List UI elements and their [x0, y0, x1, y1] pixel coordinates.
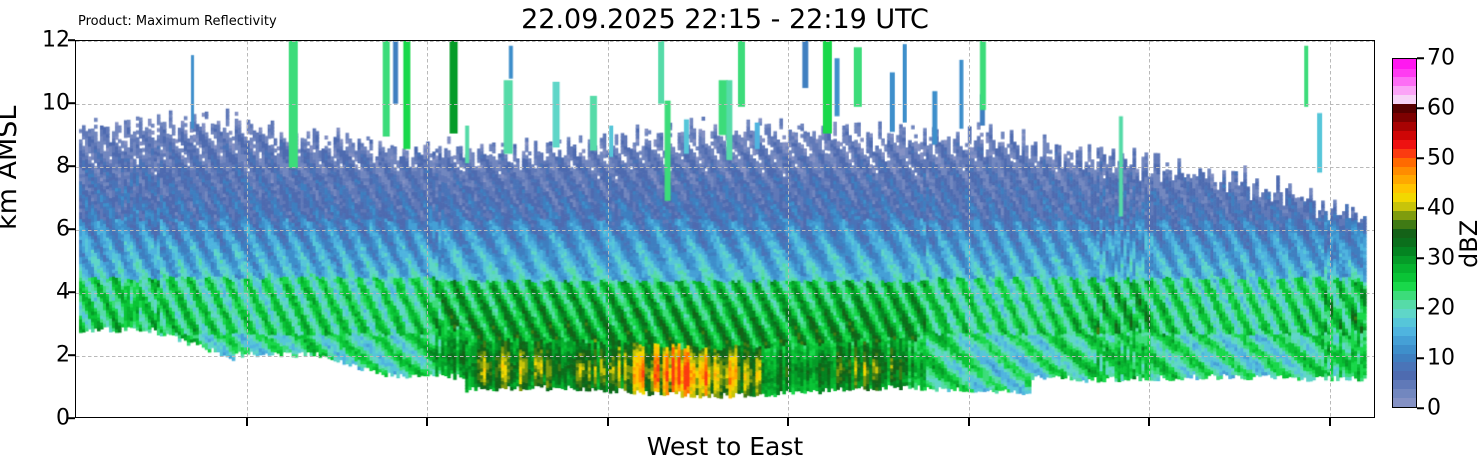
y-tick-label: 12: [42, 28, 70, 53]
colorbar-tick-label: 50: [1427, 146, 1455, 171]
x-tick-mark: [1148, 418, 1150, 426]
colorbar-band: [1393, 380, 1416, 390]
radar-cross-section-figure: Product: Maximum Reflectivity 22.09.2025…: [0, 0, 1482, 470]
colorbar-tick-mark: [1417, 207, 1424, 209]
colorbar-band: [1393, 175, 1416, 185]
x-tick-mark: [968, 418, 970, 426]
x-tick-mark: [1329, 418, 1331, 426]
colorbar-band: [1393, 112, 1416, 122]
colorbar-tick-mark: [1417, 107, 1424, 109]
colorbar-band: [1393, 371, 1416, 381]
colorbar-band: [1393, 237, 1416, 247]
colorbar-band: [1393, 264, 1416, 274]
colorbar-band: [1393, 273, 1416, 283]
colorbar-band: [1393, 210, 1416, 220]
colorbar-band: [1393, 291, 1416, 301]
colorbar-band: [1393, 308, 1416, 318]
y-tick-label: 2: [56, 343, 70, 368]
colorbar-band: [1393, 77, 1416, 87]
colorbar-band: [1393, 228, 1416, 238]
colorbar-tick-mark: [1417, 357, 1424, 359]
colorbar-tick-label: 30: [1427, 246, 1455, 271]
y-tick-label: 8: [56, 154, 70, 179]
colorbar-band: [1393, 104, 1416, 114]
colorbar-band: [1393, 184, 1416, 194]
y-tick-label: 0: [56, 406, 70, 431]
x-tick-mark: [246, 418, 248, 426]
colorbar-band: [1393, 139, 1416, 149]
colorbar-band: [1393, 353, 1416, 363]
colorbar-band: [1393, 157, 1416, 167]
y-axis-label: km AMSL: [0, 106, 23, 230]
colorbar-band: [1393, 344, 1416, 354]
reflectivity-heatmap: [76, 41, 1374, 417]
colorbar-tick-label: 20: [1427, 296, 1455, 321]
colorbar-band: [1393, 389, 1416, 399]
colorbar-tick-mark: [1417, 57, 1424, 59]
colorbar-band: [1393, 95, 1416, 105]
colorbar-band: [1393, 300, 1416, 310]
chart-title: 22.09.2025 22:15 - 22:19 UTC: [75, 4, 1375, 35]
plot-area: [75, 40, 1375, 418]
colorbar: [1392, 58, 1417, 408]
colorbar-band: [1393, 193, 1416, 203]
colorbar-band: [1393, 121, 1416, 131]
colorbar-tick-label: 40: [1427, 196, 1455, 221]
colorbar-band: [1393, 317, 1416, 327]
x-tick-mark: [426, 418, 428, 426]
colorbar-band: [1393, 166, 1416, 176]
colorbar-band: [1393, 362, 1416, 372]
colorbar-tick-label: 0: [1427, 396, 1441, 421]
colorbar-tick-mark: [1417, 157, 1424, 159]
x-tick-mark: [607, 418, 609, 426]
colorbar-band: [1393, 148, 1416, 158]
colorbar-band: [1393, 255, 1416, 265]
colorbar-band: [1393, 202, 1416, 212]
colorbar-tick-mark: [1417, 407, 1424, 409]
y-tick-label: 6: [56, 217, 70, 242]
x-axis-label: West to East: [75, 432, 1375, 461]
colorbar-band: [1393, 59, 1416, 69]
colorbar-label: dBZ: [1455, 220, 1482, 268]
colorbar-tick-label: 60: [1427, 96, 1455, 121]
colorbar-tick-mark: [1417, 257, 1424, 259]
colorbar-tick-mark: [1417, 307, 1424, 309]
colorbar-band: [1393, 219, 1416, 229]
colorbar-band: [1393, 86, 1416, 96]
colorbar-band: [1393, 282, 1416, 292]
colorbar-band: [1393, 68, 1416, 78]
colorbar-band: [1393, 335, 1416, 345]
y-tick-label: 10: [42, 91, 70, 116]
x-tick-mark: [787, 418, 789, 426]
colorbar-tick-label: 70: [1427, 46, 1455, 71]
colorbar-band: [1393, 130, 1416, 140]
colorbar-tick-label: 10: [1427, 346, 1455, 371]
colorbar-band: [1393, 246, 1416, 256]
y-tick-label: 4: [56, 280, 70, 305]
colorbar-band: [1393, 398, 1416, 408]
colorbar-band: [1393, 326, 1416, 336]
